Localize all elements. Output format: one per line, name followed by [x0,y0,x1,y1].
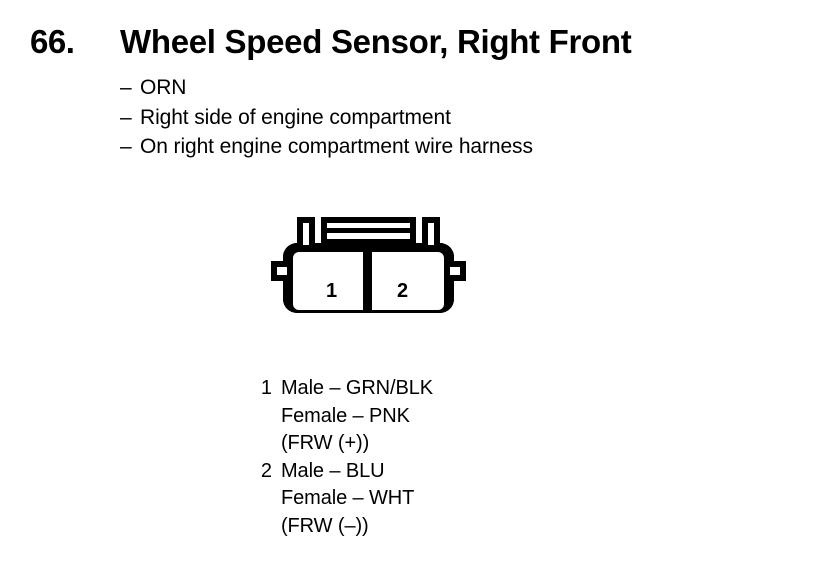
legend-pin-number: 2 [250,458,272,486]
dash-bullet-icon: – [120,132,140,162]
pin-legend: 1 Male – GRN/BLK Female – PNK (FRW (+)) … [250,375,590,540]
pin-legend-group: 1 Male – GRN/BLK Female – PNK (FRW (+)) [250,375,590,458]
legend-pin-number: 1 [250,375,272,403]
connector-cavity-label-1: 1 [326,281,337,301]
legend-line: (FRW (+)) [281,430,590,458]
legend-row: Female – WHT [250,485,590,513]
list-item: –On right engine compartment wire harnes… [120,132,740,162]
connector-outline-icon [266,215,471,327]
connector-diagram: 1 2 [266,215,471,327]
legend-row: 2 Male – BLU [250,458,590,486]
connector-cavity-label-2: 2 [397,281,408,301]
legend-line: Female – WHT [281,485,590,513]
list-item-label: On right engine compartment wire harness [140,135,533,158]
list-item: –ORN [120,73,740,103]
list-item-label: ORN [140,76,186,99]
list-item-label: Right side of engine compartment [140,106,451,129]
page-title: Wheel Speed Sensor, Right Front [120,22,631,62]
legend-line: (FRW (–)) [281,513,590,541]
legend-row: Female – PNK [250,403,590,431]
legend-row: (FRW (+)) [250,430,590,458]
entry-number: 66. [30,22,74,62]
legend-line: Male – GRN/BLK [281,375,590,403]
legend-row: 1 Male – GRN/BLK [250,375,590,403]
detail-list: –ORN –Right side of engine compartment –… [120,73,740,162]
dash-bullet-icon: – [120,73,140,103]
list-item: –Right side of engine compartment [120,103,740,133]
legend-line: Female – PNK [281,403,590,431]
legend-row: (FRW (–)) [250,513,590,541]
pin-legend-group: 2 Male – BLU Female – WHT (FRW (–)) [250,458,590,541]
legend-line: Male – BLU [281,458,590,486]
dash-bullet-icon: – [120,103,140,133]
page-header: 66. Wheel Speed Sensor, Right Front [0,22,832,66]
